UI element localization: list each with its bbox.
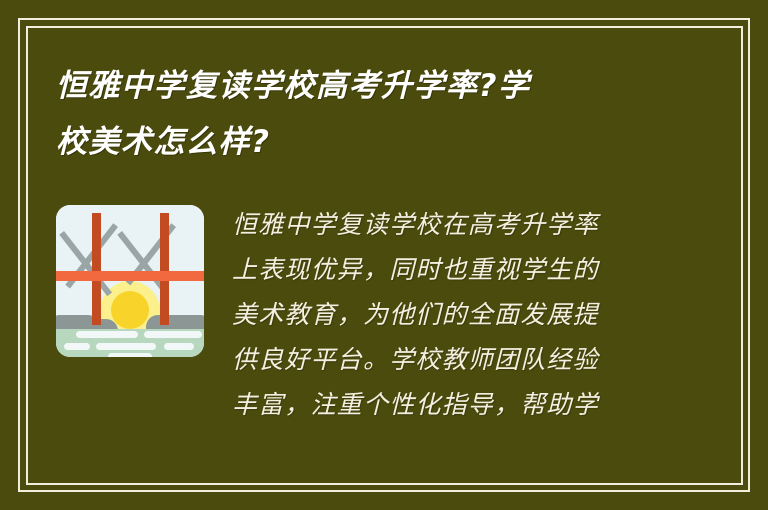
body-paragraph: 恒雅中学复读学校在高考升学率 上表现优异，同时也重视学生的 美术教育，为他们的全… [232, 202, 672, 427]
illustration-panel [56, 205, 204, 357]
content-area: 恒雅中学复读学校在高考升学率 上表现优异，同时也重视学生的 美术教育，为他们的全… [56, 202, 716, 502]
water-wave-2 [144, 331, 202, 338]
bridge-sunset-illustration [56, 205, 204, 357]
body-line-4: 供良好平台。学校教师团队经验 [232, 337, 672, 382]
body-line-5: 丰富，注重个性化指导，帮助学 [232, 382, 672, 427]
body-line-3: 美术教育，为他们的全面发展提 [232, 292, 672, 337]
page-title: 恒雅中学复读学校高考升学率?学 校美术怎么样? [56, 58, 696, 170]
bridge-beam [56, 271, 204, 281]
water-wave-6 [108, 353, 152, 357]
water-wave-1 [76, 331, 138, 338]
title-line-1: 恒雅中学复读学校高考升学率?学 [56, 58, 696, 114]
bridge-pillar-left [92, 213, 101, 325]
body-line-1: 恒雅中学复读学校在高考升学率 [232, 202, 672, 247]
body-line-2: 上表现优异，同时也重视学生的 [232, 247, 672, 292]
title-line-2: 校美术怎么样? [56, 114, 696, 170]
water-wave-4 [96, 343, 156, 350]
water-wave-5 [164, 343, 194, 350]
poster-canvas: 恒雅中学复读学校高考升学率?学 校美术怎么样? [0, 0, 768, 510]
water-wave-3 [64, 343, 90, 350]
bridge-pillar-right [160, 213, 169, 325]
sun-icon [111, 291, 149, 329]
